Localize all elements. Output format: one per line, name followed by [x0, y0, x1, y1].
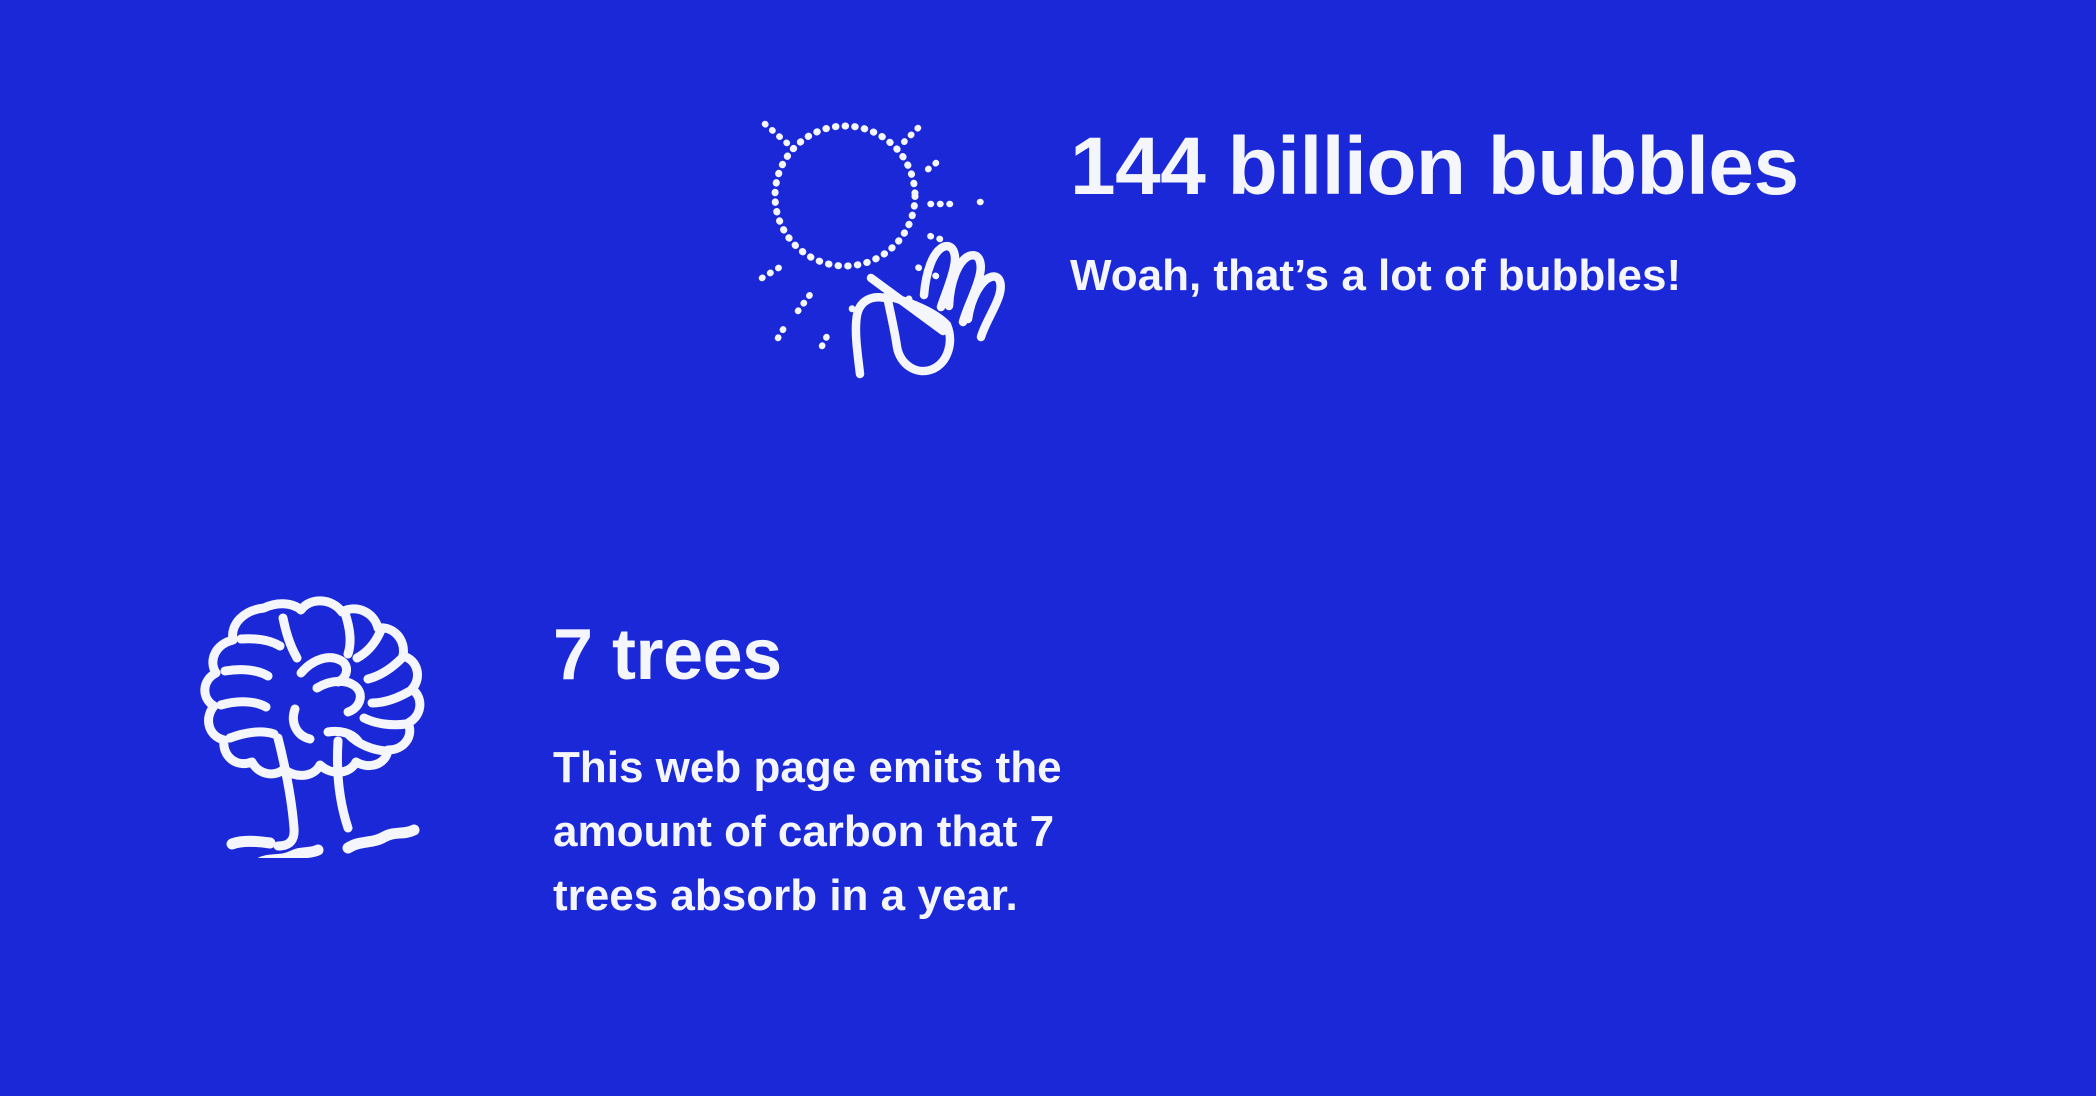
stat-text-trees: 7 trees This web page emits the amount o… — [553, 592, 1062, 928]
bubble-blowing-hand-icon — [740, 106, 1030, 396]
stat-block-bubbles: 144 billion bubbles Woah, that’s a lot o… — [740, 112, 1799, 396]
stat-description-trees: This web page emits the amount of carbon… — [553, 736, 1062, 928]
stat-description-bubbles: Woah, that’s a lot of bubbles! — [1070, 248, 1799, 304]
stat-text-bubbles: 144 billion bubbles Woah, that’s a lot o… — [1070, 112, 1799, 304]
carbon-stats-panel: 144 billion bubbles Woah, that’s a lot o… — [0, 0, 2096, 1096]
stat-value-trees: 7 trees — [553, 614, 1062, 696]
stat-description-line: This web page emits the — [553, 736, 1062, 800]
stat-value-bubbles: 144 billion bubbles — [1070, 120, 1799, 214]
stat-description-line: trees absorb in a year. — [553, 864, 1062, 928]
stat-block-trees: 7 trees This web page emits the amount o… — [200, 592, 1062, 928]
tree-icon — [200, 578, 450, 858]
stat-description-line: amount of carbon that 7 — [553, 800, 1062, 864]
